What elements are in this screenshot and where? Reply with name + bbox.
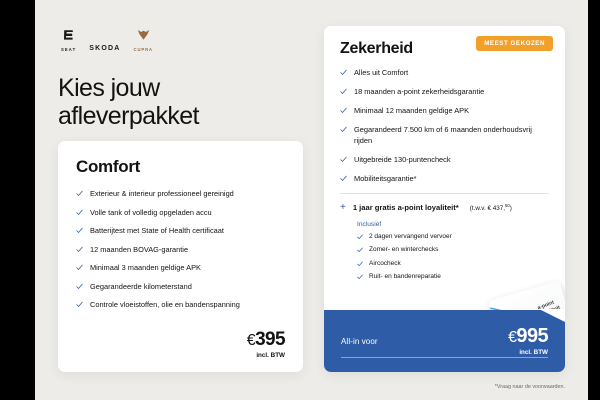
zekerheid-price-block: €995 incl. BTW bbox=[508, 326, 548, 356]
skoda-wordmark: SKODA bbox=[89, 45, 120, 52]
check-icon bbox=[357, 261, 363, 267]
feature-text: Volle tank of volledig opgeladen accu bbox=[90, 208, 212, 219]
check-icon bbox=[340, 156, 347, 163]
comfort-price-vat-note: incl. BTW bbox=[247, 352, 285, 359]
comfort-price-block: €395 incl. BTW bbox=[247, 330, 285, 359]
check-icon bbox=[357, 247, 363, 253]
feature-text: 12 maanden BOVAG-garantie bbox=[90, 245, 188, 256]
status-badge: MEEST GEKOZEN bbox=[476, 36, 553, 51]
check-icon bbox=[76, 264, 83, 271]
included-text: 2 dagen vervangend vervoer bbox=[369, 233, 452, 241]
check-icon bbox=[340, 69, 347, 76]
list-item: Alles uit Comfort bbox=[340, 68, 549, 79]
list-item: Minimaal 3 maanden geldige APK bbox=[76, 263, 285, 274]
list-item: 2 dagen vervangend vervoer bbox=[357, 233, 549, 241]
check-icon bbox=[76, 301, 83, 308]
list-item: Gegarandeerde kilometerstand bbox=[76, 282, 285, 293]
currency-symbol: € bbox=[247, 332, 255, 349]
feature-text: Batterijtest met State of Health certifi… bbox=[90, 226, 224, 237]
loyalty-label: 1 jaar gratis a-point loyaliteit* bbox=[353, 203, 459, 212]
check-icon bbox=[340, 175, 347, 182]
list-item: Aircocheck bbox=[357, 260, 549, 268]
allin-label: All-in voor bbox=[341, 337, 378, 346]
check-icon bbox=[76, 246, 83, 253]
check-icon bbox=[357, 234, 363, 240]
brand-skoda: SKODA bbox=[89, 45, 120, 52]
feature-text: Minimaal 12 maanden geldige APK bbox=[354, 106, 469, 117]
feature-text: Gegarandeerd 7.500 km of 6 maanden onder… bbox=[354, 125, 549, 146]
price-value: 995 bbox=[516, 325, 548, 347]
page-title: Kies jouw afleverpakket bbox=[58, 74, 303, 130]
list-item: Volle tank of volledig opgeladen accu bbox=[76, 208, 285, 219]
seat-wordmark: SEAT bbox=[61, 47, 76, 52]
seat-logo-icon bbox=[63, 29, 74, 45]
feature-text: Gegarandeerde kilometerstand bbox=[90, 282, 192, 293]
list-item: Batterijtest met State of Health certifi… bbox=[76, 226, 285, 237]
loyalty-value-suffix: ) bbox=[510, 205, 512, 212]
list-item: Minimaal 12 maanden geldige APK bbox=[340, 106, 549, 117]
allin-underline bbox=[341, 357, 548, 358]
feature-text: Uitgebreide 130-puntencheck bbox=[354, 155, 451, 166]
feature-text: Exterieur & interieur professioneel gere… bbox=[90, 189, 234, 200]
list-item: Gegarandeerd 7.500 km of 6 maanden onder… bbox=[340, 125, 549, 146]
included-text: Zomer- en winterchecks bbox=[369, 246, 438, 254]
corner-fold-decoration bbox=[539, 309, 565, 322]
included-text: Ruit- en bandenreparatie bbox=[369, 273, 441, 281]
comfort-title: Comfort bbox=[76, 157, 285, 177]
loyalty-value-prefix: (t.w.v. € 437, bbox=[470, 205, 505, 212]
comfort-feature-list: Exterieur & interieur professioneel gere… bbox=[76, 189, 285, 311]
zekerheid-price: €995 bbox=[508, 326, 548, 346]
brand-seat: SEAT bbox=[61, 29, 76, 52]
list-item: Zomer- en winterchecks bbox=[357, 246, 549, 254]
check-icon bbox=[76, 190, 83, 197]
zekerheid-feature-list: Alles uit Comfort 18 maanden a-point zek… bbox=[340, 68, 549, 184]
feature-text: Minimaal 3 maanden geldige APK bbox=[90, 263, 201, 274]
brand-logo-row: SEAT SKODA CUPRA bbox=[58, 28, 303, 52]
list-item: Mobiliteitsgarantie* bbox=[340, 174, 549, 185]
check-icon bbox=[340, 126, 347, 133]
check-icon bbox=[357, 274, 363, 280]
feature-text: Alles uit Comfort bbox=[354, 68, 408, 79]
allin-price-bar: All-in voor €995 incl. BTW bbox=[324, 310, 565, 372]
cupra-wordmark: CUPRA bbox=[134, 47, 153, 52]
check-icon bbox=[340, 88, 347, 95]
feature-text: Controle vloeistoffen, olie en bandenspa… bbox=[90, 300, 240, 311]
poster-canvas: SEAT SKODA CUPRA Kies jouw afleverpakket… bbox=[35, 0, 588, 400]
footnote: *Vraag naar de voorwaarden. bbox=[495, 384, 565, 390]
feature-text: Mobiliteitsgarantie* bbox=[354, 174, 416, 185]
left-column: SEAT SKODA CUPRA Kies jouw afleverpakket bbox=[58, 28, 303, 130]
list-item: Ruit- en bandenreparatie bbox=[357, 273, 549, 281]
cupra-logo-icon bbox=[137, 29, 150, 45]
comfort-price: €395 bbox=[247, 330, 285, 349]
check-icon bbox=[76, 209, 83, 216]
list-item: 18 maanden a-point zekerheidsgarantie bbox=[340, 87, 549, 98]
included-text: Aircocheck bbox=[369, 260, 401, 268]
check-icon bbox=[76, 227, 83, 234]
zekerheid-price-vat-note: incl. BTW bbox=[508, 349, 548, 356]
list-item: Exterieur & interieur professioneel gere… bbox=[76, 189, 285, 200]
plus-icon: + bbox=[340, 203, 346, 213]
price-value: 395 bbox=[255, 329, 285, 350]
feature-text: 18 maanden a-point zekerheidsgarantie bbox=[354, 87, 484, 98]
list-item: Uitgebreide 130-puntencheck bbox=[340, 155, 549, 166]
loyalty-row: + 1 jaar gratis a-point loyaliteit* (t.w… bbox=[340, 203, 549, 213]
list-item: Controle vloeistoffen, olie en bandenspa… bbox=[76, 300, 285, 311]
brand-cupra: CUPRA bbox=[134, 29, 153, 52]
check-icon bbox=[76, 283, 83, 290]
list-item: 12 maanden BOVAG-garantie bbox=[76, 245, 285, 256]
comfort-package-card[interactable]: Comfort Exterieur & interieur profession… bbox=[58, 141, 303, 372]
loyalty-value-note: (t.w.v. € 437,50) bbox=[470, 203, 512, 212]
zekerheid-package-card[interactable]: MEEST GEKOZEN Zekerheid Alles uit Comfor… bbox=[324, 26, 565, 372]
section-divider bbox=[340, 193, 549, 194]
check-icon bbox=[340, 107, 347, 114]
included-heading: Inclusief bbox=[357, 221, 549, 228]
included-list: 2 dagen vervangend vervoer Zomer- en win… bbox=[357, 233, 549, 282]
